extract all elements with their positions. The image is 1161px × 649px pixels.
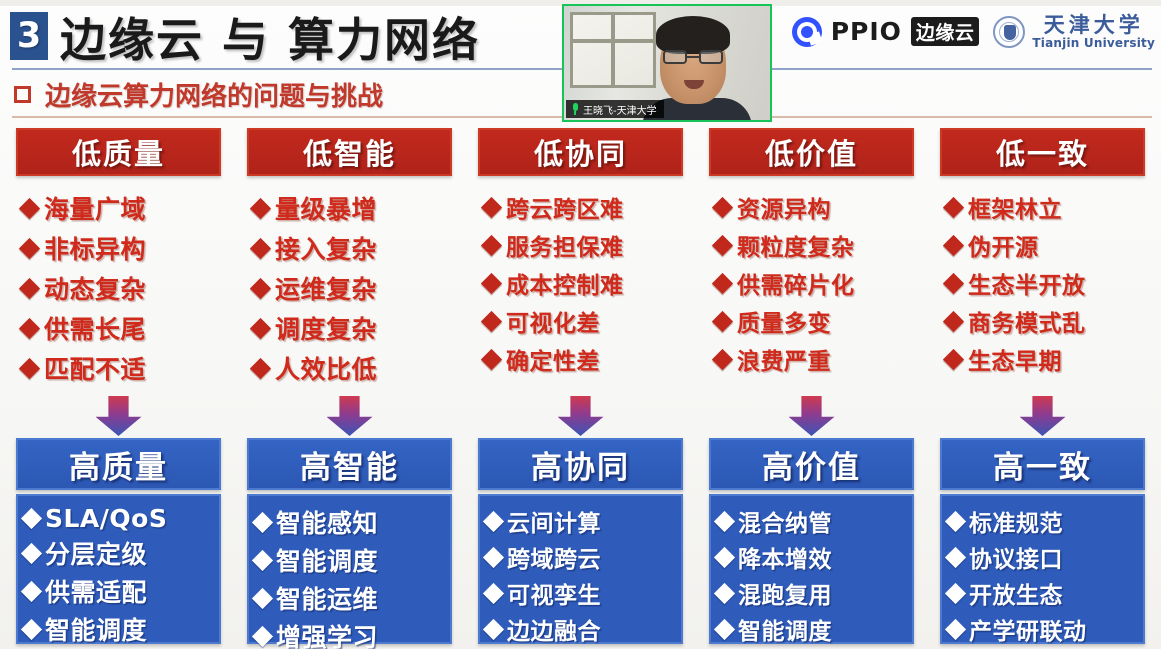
list-item: 供需适配 bbox=[24, 573, 219, 609]
diamond-bullet-icon bbox=[21, 580, 42, 601]
video-participant-tile[interactable]: 王晓飞-天津大学 bbox=[562, 4, 772, 122]
column-3: 低协同 跨云跨区难 服务担保难 成本控制难 可视化差 确定性差 高协同 云间计算… bbox=[478, 128, 683, 649]
solution-header-4: 高价值 bbox=[709, 438, 914, 490]
solution-list-5: 标准规范 协议接口 开放生态 产学研联动 bbox=[940, 494, 1145, 644]
transition-arrow-wrap-1 bbox=[16, 396, 221, 436]
list-item: 开放生态 bbox=[948, 576, 1143, 610]
solution-item-text: 跨域跨云 bbox=[507, 540, 601, 574]
video-person-hair bbox=[656, 16, 730, 54]
list-item: 协议接口 bbox=[948, 540, 1143, 574]
problem-title-2: 低智能 bbox=[303, 131, 396, 173]
solution-list-3: 云间计算 跨域跨云 可视孪生 边边融合 bbox=[478, 494, 683, 644]
solution-item-text: 标准规范 bbox=[969, 504, 1063, 538]
solution-title-3: 高协同 bbox=[531, 442, 630, 487]
problem-list-3: 跨云跨区难 服务担保难 成本控制难 可视化差 确定性差 bbox=[478, 190, 683, 376]
solution-list-4: 混合纳管 降本增效 混跑复用 智能调度 bbox=[709, 494, 914, 644]
list-item: 成本控制难 bbox=[484, 266, 624, 300]
diamond-bullet-icon bbox=[250, 277, 271, 298]
solution-item-text: 云间计算 bbox=[507, 504, 601, 538]
problem-item-text: 成本控制难 bbox=[506, 266, 624, 300]
slide-canvas: 3 边缘云 与 算力网络 边缘云算力网络的问题与挑战 王晓飞-天津大学 PPIO… bbox=[0, 0, 1161, 649]
tianjin-university-logo: 天津大学 Tianjin University bbox=[993, 14, 1155, 49]
list-item: 供需长尾 bbox=[22, 310, 146, 346]
solution-item-text: 可视孪生 bbox=[507, 576, 601, 610]
solution-item-text: 协议接口 bbox=[969, 540, 1063, 574]
solution-title-2: 高智能 bbox=[300, 442, 399, 487]
problem-item-text: 资源异构 bbox=[737, 190, 831, 224]
diamond-bullet-icon bbox=[712, 234, 733, 255]
problem-item-text: 服务担保难 bbox=[506, 228, 624, 262]
list-item: 混合纳管 bbox=[717, 504, 912, 538]
diamond-bullet-icon bbox=[945, 618, 966, 639]
diamond-bullet-icon bbox=[712, 310, 733, 331]
column-4: 低价值 资源异构 颗粒度复杂 供需碎片化 质量多变 浪费严重 高价值 混合纳管 … bbox=[709, 128, 914, 649]
solution-item-text: 智能感知 bbox=[276, 504, 378, 540]
solution-item-text: 智能运维 bbox=[276, 580, 378, 616]
diamond-bullet-icon bbox=[943, 196, 964, 217]
solution-item-text: SLA/QoS bbox=[45, 504, 167, 533]
list-item: 分层定级 bbox=[24, 535, 219, 571]
list-item: 智能感知 bbox=[255, 504, 450, 540]
diamond-bullet-icon bbox=[945, 546, 966, 567]
list-item: 智能运维 bbox=[255, 580, 450, 616]
solution-header-1: 高质量 bbox=[16, 438, 221, 490]
diamond-bullet-icon bbox=[250, 357, 271, 378]
diamond-bullet-icon bbox=[252, 625, 273, 646]
video-window-frame bbox=[570, 12, 656, 88]
problem-item-text: 海量广域 bbox=[44, 190, 146, 226]
list-item: 商务模式乱 bbox=[946, 304, 1086, 338]
list-item: 浪费严重 bbox=[715, 342, 831, 376]
problem-item-text: 确定性差 bbox=[506, 342, 600, 376]
problem-item-text: 框架林立 bbox=[968, 190, 1062, 224]
page-title: 边缘云 与 算力网络 bbox=[60, 4, 480, 70]
down-arrow-icon bbox=[327, 396, 373, 436]
diamond-bullet-icon bbox=[19, 277, 40, 298]
down-arrow-icon bbox=[1020, 396, 1066, 436]
diamond-bullet-icon bbox=[714, 618, 735, 639]
diamond-bullet-icon bbox=[481, 234, 502, 255]
problem-item-text: 浪费严重 bbox=[737, 342, 831, 376]
diamond-bullet-icon bbox=[943, 272, 964, 293]
list-item: 供需碎片化 bbox=[715, 266, 855, 300]
tju-name-en: Tianjin University bbox=[1032, 37, 1155, 49]
problem-item-text: 质量多变 bbox=[737, 304, 831, 338]
diamond-bullet-icon bbox=[945, 510, 966, 531]
list-item: 云间计算 bbox=[486, 504, 681, 538]
list-item: 动态复杂 bbox=[22, 270, 146, 306]
list-item: 框架林立 bbox=[946, 190, 1062, 224]
diamond-bullet-icon bbox=[252, 549, 273, 570]
solution-list-1: SLA/QoS 分层定级 供需适配 智能调度 bbox=[16, 494, 221, 644]
column-5: 低一致 框架林立 伪开源 生态半开放 商务模式乱 生态早期 高一致 标准规范 协… bbox=[940, 128, 1145, 649]
diamond-bullet-icon bbox=[250, 317, 271, 338]
down-arrow-icon bbox=[558, 396, 604, 436]
diamond-bullet-icon bbox=[252, 587, 273, 608]
problem-item-text: 生态早期 bbox=[968, 342, 1062, 376]
list-item: 颗粒度复杂 bbox=[715, 228, 855, 262]
list-item: 服务担保难 bbox=[484, 228, 624, 262]
list-item: 生态早期 bbox=[946, 342, 1062, 376]
down-arrow-icon bbox=[96, 396, 142, 436]
problem-item-text: 伪开源 bbox=[968, 228, 1039, 262]
solution-item-text: 混合纳管 bbox=[738, 504, 832, 538]
problem-item-text: 匹配不适 bbox=[44, 350, 146, 386]
diamond-bullet-icon bbox=[483, 618, 504, 639]
subtitle-row: 边缘云算力网络的问题与挑战 bbox=[14, 74, 383, 114]
list-item: 质量多变 bbox=[715, 304, 831, 338]
diamond-bullet-icon bbox=[252, 511, 273, 532]
diamond-bullet-icon bbox=[945, 582, 966, 603]
tju-name-block: 天津大学 Tianjin University bbox=[1032, 14, 1155, 49]
problem-item-text: 颗粒度复杂 bbox=[737, 228, 855, 262]
list-item: 非标异构 bbox=[22, 230, 146, 266]
solution-header-2: 高智能 bbox=[247, 438, 452, 490]
transition-arrow-wrap-2 bbox=[247, 396, 452, 436]
diamond-bullet-icon bbox=[712, 348, 733, 369]
solution-title-5: 高一致 bbox=[993, 442, 1092, 487]
microphone-icon bbox=[571, 103, 579, 115]
problem-list-1: 海量广域 非标异构 动态复杂 供需长尾 匹配不适 bbox=[16, 190, 221, 386]
ppio-badge-label: 边缘云 bbox=[911, 17, 980, 46]
list-item: 调度复杂 bbox=[253, 310, 377, 346]
problem-item-text: 商务模式乱 bbox=[968, 304, 1086, 338]
diamond-bullet-icon bbox=[943, 348, 964, 369]
solution-title-4: 高价值 bbox=[762, 442, 861, 487]
diamond-bullet-icon bbox=[19, 357, 40, 378]
square-bullet-icon bbox=[14, 86, 31, 103]
problem-item-text: 量级暴增 bbox=[275, 190, 377, 226]
problem-header-3: 低协同 bbox=[478, 128, 683, 176]
problem-item-text: 供需长尾 bbox=[44, 310, 146, 346]
diamond-bullet-icon bbox=[481, 310, 502, 331]
solution-item-text: 智能调度 bbox=[45, 611, 147, 647]
section-number-badge: 3 bbox=[10, 12, 48, 60]
problem-header-5: 低一致 bbox=[940, 128, 1145, 176]
problem-item-text: 接入复杂 bbox=[275, 230, 377, 266]
problem-list-5: 框架林立 伪开源 生态半开放 商务模式乱 生态早期 bbox=[940, 190, 1145, 376]
diamond-bullet-icon bbox=[21, 542, 42, 563]
list-item: 智能调度 bbox=[717, 612, 912, 646]
list-item: 生态半开放 bbox=[946, 266, 1086, 300]
list-item: 标准规范 bbox=[948, 504, 1143, 538]
problem-item-text: 运维复杂 bbox=[275, 270, 377, 306]
diamond-bullet-icon bbox=[714, 546, 735, 567]
list-item: SLA/QoS bbox=[24, 504, 219, 533]
problem-title-5: 低一致 bbox=[996, 131, 1089, 173]
down-arrow-icon bbox=[789, 396, 835, 436]
ppio-circle-logo-icon bbox=[792, 17, 822, 47]
problem-list-2: 量级暴增 接入复杂 运维复杂 调度复杂 人效比低 bbox=[247, 190, 452, 386]
problem-item-text: 人效比低 bbox=[275, 350, 377, 386]
list-item: 接入复杂 bbox=[253, 230, 377, 266]
diamond-bullet-icon bbox=[943, 310, 964, 331]
diamond-bullet-icon bbox=[21, 618, 42, 639]
diamond-bullet-icon bbox=[712, 272, 733, 293]
diamond-bullet-icon bbox=[19, 237, 40, 258]
problem-item-text: 生态半开放 bbox=[968, 266, 1086, 300]
problem-item-text: 调度复杂 bbox=[275, 310, 377, 346]
tianjin-university-seal-icon bbox=[993, 16, 1025, 48]
solution-item-text: 混跑复用 bbox=[738, 576, 832, 610]
list-item: 跨域跨云 bbox=[486, 540, 681, 574]
diamond-bullet-icon bbox=[483, 582, 504, 603]
list-item: 智能调度 bbox=[24, 611, 219, 647]
list-item: 资源异构 bbox=[715, 190, 831, 224]
problem-title-4: 低价值 bbox=[765, 131, 858, 173]
solution-title-1: 高质量 bbox=[69, 442, 168, 487]
solution-header-5: 高一致 bbox=[940, 438, 1145, 490]
diamond-bullet-icon bbox=[250, 197, 271, 218]
diamond-bullet-icon bbox=[943, 234, 964, 255]
problem-item-text: 跨云跨区难 bbox=[506, 190, 624, 224]
list-item: 边边融合 bbox=[486, 612, 681, 646]
solution-item-text: 开放生态 bbox=[969, 576, 1063, 610]
diamond-bullet-icon bbox=[21, 508, 42, 529]
diamond-bullet-icon bbox=[714, 510, 735, 531]
problem-item-text: 非标异构 bbox=[44, 230, 146, 266]
ppio-logo: PPIO 边缘云 bbox=[792, 17, 980, 47]
solution-item-text: 智能调度 bbox=[276, 542, 378, 578]
diamond-bullet-icon bbox=[19, 197, 40, 218]
diamond-bullet-icon bbox=[19, 317, 40, 338]
list-item: 可视孪生 bbox=[486, 576, 681, 610]
transition-arrow-wrap-5 bbox=[940, 396, 1145, 436]
list-item: 海量广域 bbox=[22, 190, 146, 226]
diamond-bullet-icon bbox=[483, 546, 504, 567]
list-item: 伪开源 bbox=[946, 228, 1039, 262]
problem-title-1: 低质量 bbox=[72, 131, 165, 173]
list-item: 可视化差 bbox=[484, 304, 600, 338]
transition-arrow-wrap-4 bbox=[709, 396, 914, 436]
column-1: 低质量 海量广域 非标异构 动态复杂 供需长尾 匹配不适 高质量 SLA/QoS… bbox=[16, 128, 221, 649]
problem-list-4: 资源异构 颗粒度复杂 供需碎片化 质量多变 浪费严重 bbox=[709, 190, 914, 376]
list-item: 确定性差 bbox=[484, 342, 600, 376]
list-item: 产学研联动 bbox=[948, 612, 1143, 646]
solution-list-2: 智能感知 智能调度 智能运维 增强学习 bbox=[247, 494, 452, 644]
list-item: 智能调度 bbox=[255, 542, 450, 578]
diamond-bullet-icon bbox=[481, 196, 502, 217]
list-item: 增强学习 bbox=[255, 618, 450, 649]
diamond-bullet-icon bbox=[483, 510, 504, 531]
solution-header-3: 高协同 bbox=[478, 438, 683, 490]
video-person-glasses bbox=[663, 50, 723, 64]
transition-arrow-wrap-3 bbox=[478, 396, 683, 436]
solution-item-text: 降本增效 bbox=[738, 540, 832, 574]
problem-item-text: 可视化差 bbox=[506, 304, 600, 338]
list-item: 混跑复用 bbox=[717, 576, 912, 610]
diamond-bullet-icon bbox=[481, 348, 502, 369]
solution-item-text: 增强学习 bbox=[276, 618, 378, 649]
participant-name-tag: 王晓飞-天津大学 bbox=[566, 100, 664, 118]
list-item: 跨云跨区难 bbox=[484, 190, 624, 224]
tju-name-cn: 天津大学 bbox=[1044, 14, 1144, 35]
logo-group: PPIO 边缘云 天津大学 Tianjin University bbox=[792, 14, 1155, 49]
solution-item-text: 供需适配 bbox=[45, 573, 147, 609]
diamond-bullet-icon bbox=[712, 196, 733, 217]
list-item: 人效比低 bbox=[253, 350, 377, 386]
problem-header-2: 低智能 bbox=[247, 128, 452, 176]
diamond-bullet-icon bbox=[250, 237, 271, 258]
problem-item-text: 供需碎片化 bbox=[737, 266, 855, 300]
solution-item-text: 产学研联动 bbox=[969, 612, 1087, 646]
column-2: 低智能 量级暴增 接入复杂 运维复杂 调度复杂 人效比低 高智能 智能感知 智能… bbox=[247, 128, 452, 649]
diamond-bullet-icon bbox=[714, 582, 735, 603]
participant-name: 王晓飞-天津大学 bbox=[583, 102, 657, 117]
diamond-bullet-icon bbox=[481, 272, 502, 293]
list-item: 运维复杂 bbox=[253, 270, 377, 306]
problem-item-text: 动态复杂 bbox=[44, 270, 146, 306]
problem-header-1: 低质量 bbox=[16, 128, 221, 176]
list-item: 降本增效 bbox=[717, 540, 912, 574]
solution-item-text: 分层定级 bbox=[45, 535, 147, 571]
problem-title-3: 低协同 bbox=[534, 131, 627, 173]
solution-item-text: 智能调度 bbox=[738, 612, 832, 646]
problem-header-4: 低价值 bbox=[709, 128, 914, 176]
list-item: 量级暴增 bbox=[253, 190, 377, 226]
list-item: 匹配不适 bbox=[22, 350, 146, 386]
ppio-wordmark: PPIO bbox=[831, 17, 902, 46]
columns-container: 低质量 海量广域 非标异构 动态复杂 供需长尾 匹配不适 高质量 SLA/QoS… bbox=[0, 128, 1161, 649]
subtitle-text: 边缘云算力网络的问题与挑战 bbox=[45, 76, 383, 113]
solution-item-text: 边边融合 bbox=[507, 612, 601, 646]
